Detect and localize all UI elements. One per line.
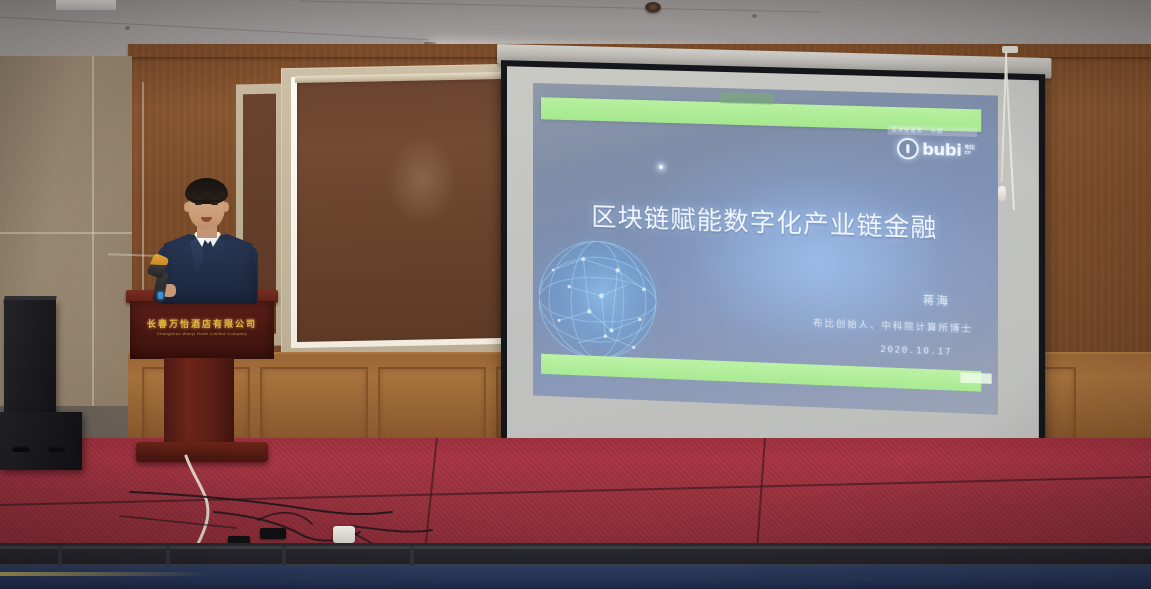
wall-panel-seam (92, 56, 94, 406)
blind-light-sheen (387, 135, 457, 226)
projected-slide: 区块链服务 · 中国 bubi 布比 cn 区块链赋能数字化产业链金融 蒋海 布… (533, 83, 998, 415)
slide-logo-strip: 区块链服务 · 中国 (888, 125, 977, 137)
cursor-dot (659, 165, 663, 169)
microphone-led-indicator (158, 292, 163, 299)
slide-bottom-accent-band (541, 354, 981, 392)
projection-screen: 区块链服务 · 中国 bubi 布比 cn 区块链赋能数字化产业链金融 蒋海 布… (497, 44, 1051, 481)
power-adapter (333, 526, 355, 543)
speaker-eyebrow-left (194, 198, 203, 200)
window-roller-blind[interactable] (297, 77, 501, 342)
conference-photo-scene: 区块链服务 · 中国 bubi 布比 cn 区块链赋能数字化产业链金融 蒋海 布… (0, 0, 1151, 589)
speaker-eye-right (211, 202, 218, 205)
stage-rail-top (0, 546, 1151, 549)
screen-surface: 区块链服务 · 中国 bubi 布比 cn 区块链赋能数字化产业链金融 蒋海 布… (507, 66, 1039, 470)
ceiling-tile-seam (0, 17, 429, 41)
ceiling-fixture-dot (752, 14, 757, 18)
floor-below-stage (0, 566, 1151, 589)
window-main (281, 64, 516, 359)
speaker-eye-left (195, 202, 202, 205)
screen-cord-toggle[interactable] (998, 186, 1006, 201)
slide-top-band-tab (720, 92, 773, 105)
bubi-logo-sub-bottom: cn (965, 150, 975, 155)
speaker-ear-right (223, 202, 229, 212)
cable-connector-box (260, 528, 286, 539)
ceiling-tile-seam (300, 1, 820, 13)
podium-front-panel: 长春万怡酒店有限公司 Changchun Wanyi Hotel Limited… (130, 301, 274, 359)
bubi-logo-wordmark: bubi (922, 139, 961, 160)
sprinkler-icon (645, 2, 661, 13)
pa-speaker-tall (4, 300, 56, 420)
slide-logo-strip-text: 区块链服务 · 中国 (892, 126, 943, 135)
speaker-eyebrow-right (210, 198, 219, 200)
slide-bottom-band-notch (960, 372, 991, 383)
speaker-ear-left (184, 202, 190, 212)
floor-stripe (0, 572, 210, 576)
screen-black-border: 区块链服务 · 中国 bubi 布比 cn 区块链赋能数字化产业链金融 蒋海 布… (501, 60, 1045, 476)
podium-sign-english: Changchun Wanyi Hotel Limited Company (130, 331, 274, 336)
ceiling-fixture-dot (125, 26, 130, 30)
bubi-logo: bubi 布比 cn (897, 138, 975, 162)
bubi-logo-subtext: 布比 cn (965, 145, 975, 156)
slide-presenter-name: 蒋海 (923, 291, 950, 308)
bubi-logo-mark-icon (897, 138, 919, 160)
ceiling-vent (56, 0, 116, 10)
podium-sign-chinese: 长春万怡酒店有限公司 (130, 317, 274, 330)
slide-date: 2020.10.17 (880, 345, 952, 358)
speaker-hair (185, 178, 228, 204)
